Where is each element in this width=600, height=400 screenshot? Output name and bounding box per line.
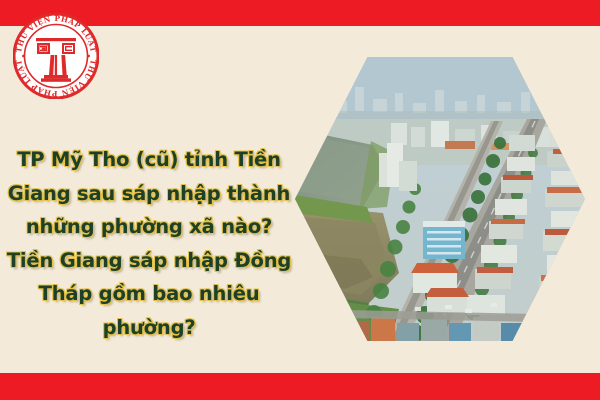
aerial-city-photo <box>295 57 585 341</box>
bottom-red-band <box>0 373 600 400</box>
headline-text: TP Mỹ Tho (cũ) tỉnh Tiền Giang sau sáp n… <box>6 143 292 344</box>
photo-canvas <box>295 57 585 341</box>
law-library-seal-icon: THƯ VIỆN PHÁP LUẬT THƯ VIỆN PHÁP LUẬT <box>13 13 99 99</box>
banner-root: THƯ VIỆN PHÁP LUẬT THƯ VIỆN PHÁP LUẬT <box>0 0 600 400</box>
